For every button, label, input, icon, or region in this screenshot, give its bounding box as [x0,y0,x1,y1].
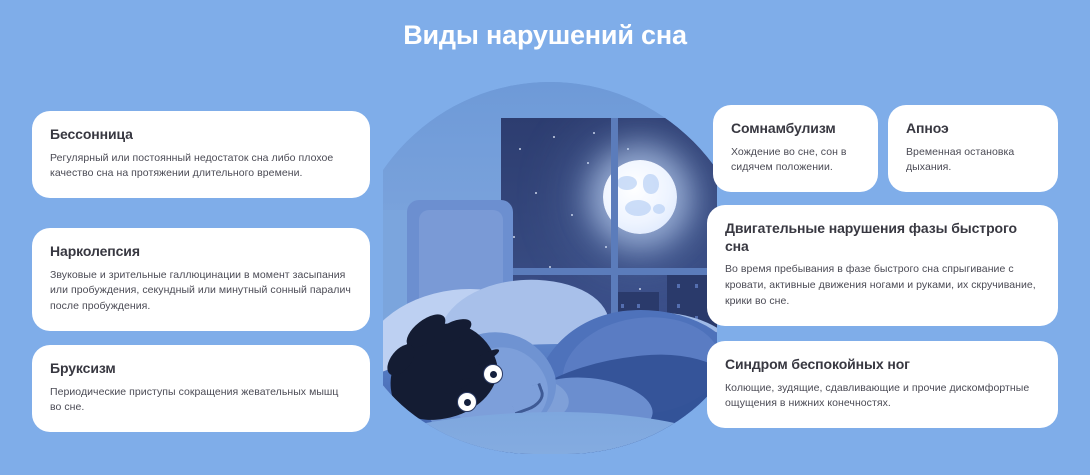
card-body: Колющие, зудящие, сдавливающие и прочие … [725,381,1040,413]
illustration-backdrop-ellipse [383,82,717,454]
window-mullion [501,268,717,275]
person-pupil [464,399,471,406]
card-title: Апноэ [906,120,1040,138]
infographic-canvas: Виды нарушений сна [0,0,1090,475]
card-body: Регулярный или постоянный недостаток сна… [50,151,352,183]
card-title: Синдром беспокойных ног [725,356,1040,374]
card-title: Бруксизм [50,360,352,378]
star-icon [593,132,595,134]
card-body: Звуковые и зрительные галлюцинации в мом… [50,268,352,316]
sleep-illustration [383,82,717,475]
star-icon [587,162,589,164]
star-icon [571,214,573,216]
card-body: Во время пребывания в фазе быстрого сна … [725,262,1040,310]
card-apnea[interactable]: Апноэ Временная остановка дыхания. [888,105,1058,192]
moon-crater [625,200,651,216]
star-icon [639,288,641,290]
moon-crater [643,174,659,194]
star-icon [519,148,521,150]
star-icon [553,136,555,138]
star-icon [535,192,537,194]
card-bruxism[interactable]: Бруксизм Периодические приступы сокращен… [32,345,370,432]
moon-crater [653,204,665,214]
star-icon [605,246,607,248]
page-title: Виды нарушений сна [0,20,1090,51]
card-title: Сомнамбулизм [731,120,860,138]
card-somnambulism[interactable]: Сомнамбулизм Хождение во сне, сон в сидя… [713,105,878,192]
card-rem-sleep-behavior-disorder[interactable]: Двигательные нарушения фазы быстрого сна… [707,205,1058,326]
card-narcolepsy[interactable]: Нарколепсия Звуковые и зрительные галлюц… [32,228,370,331]
card-body: Периодические приступы сокращения жевате… [50,385,352,417]
card-insomnia[interactable]: Бессонница Регулярный или постоянный нед… [32,111,370,198]
card-body: Хождение во сне, сон в сидячем положении… [731,145,860,177]
card-title: Нарколепсия [50,243,352,261]
moon-crater [617,176,637,190]
star-icon [513,236,515,238]
card-body: Временная остановка дыхания. [906,145,1040,177]
card-title: Бессонница [50,126,352,144]
person-pupil [490,371,497,378]
star-icon [627,148,629,150]
card-title: Двигательные нарушения фазы быстрого сна [725,220,1040,255]
card-restless-legs-syndrome[interactable]: Синдром беспокойных ног Колющие, зудящие… [707,341,1058,428]
